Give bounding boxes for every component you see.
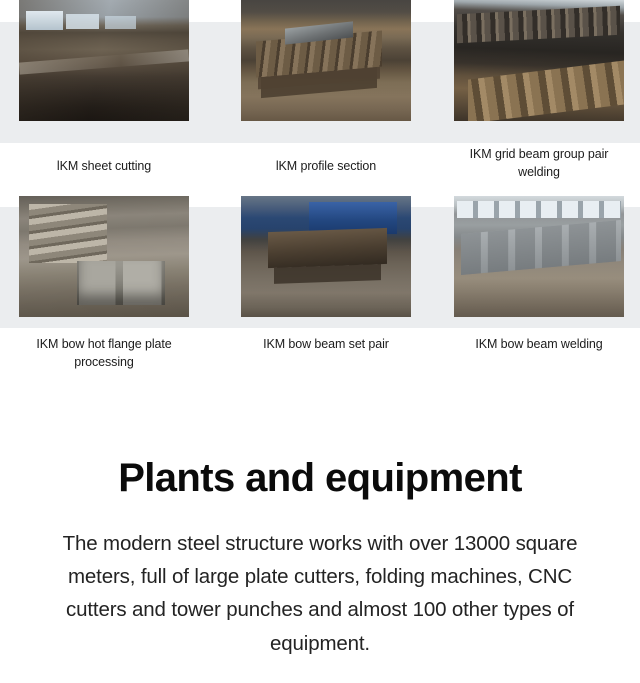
page-title: Plants and equipment xyxy=(0,455,640,501)
gallery-caption-bow-beam-welding: IKM bow beam welding xyxy=(449,336,629,354)
gallery-caption-bow-beam-set-pair: IKM bow beam set pair xyxy=(236,336,416,354)
gallery-photo-profile-section[interactable] xyxy=(241,0,411,121)
photo-image-bow-beam-set-pair xyxy=(241,196,411,317)
photo-image-grid-beam-group-pair-welding xyxy=(454,0,624,121)
gallery-photo-sheet-cutting[interactable] xyxy=(19,0,189,121)
photo-image-bow-beam-welding xyxy=(454,196,624,317)
photo-image-sheet-cutting xyxy=(19,0,189,121)
photo-image-profile-section xyxy=(241,0,411,121)
gallery-caption-bow-hot-flange-plate-processing: IKM bow hot flange plate processing xyxy=(14,336,194,372)
gallery-caption-sheet-cutting: lKM sheet cutting xyxy=(14,158,194,176)
gallery-caption-grid-beam-group-pair-welding: IKM grid beam group pair welding xyxy=(449,146,629,182)
gallery-row-1: lKM sheet cutting lKM profile section IK… xyxy=(0,0,640,196)
gallery-photo-grid-beam-group-pair-welding[interactable] xyxy=(454,0,624,121)
photo-image-bow-hot-flange-plate-processing xyxy=(19,196,189,317)
content-block: Plants and equipment The modern steel st… xyxy=(0,455,640,660)
gallery-photo-bow-beam-welding[interactable] xyxy=(454,196,624,317)
gallery-caption-profile-section: lKM profile section xyxy=(236,158,416,176)
gallery-photo-bow-beam-set-pair[interactable] xyxy=(241,196,411,317)
gallery-row-2: IKM bow hot flange plate processing IKM … xyxy=(0,196,640,386)
page-root: lKM sheet cutting lKM profile section IK… xyxy=(0,0,640,683)
gallery-photo-bow-hot-flange-plate-processing[interactable] xyxy=(19,196,189,317)
page-description: The modern steel structure works with ov… xyxy=(40,527,600,660)
